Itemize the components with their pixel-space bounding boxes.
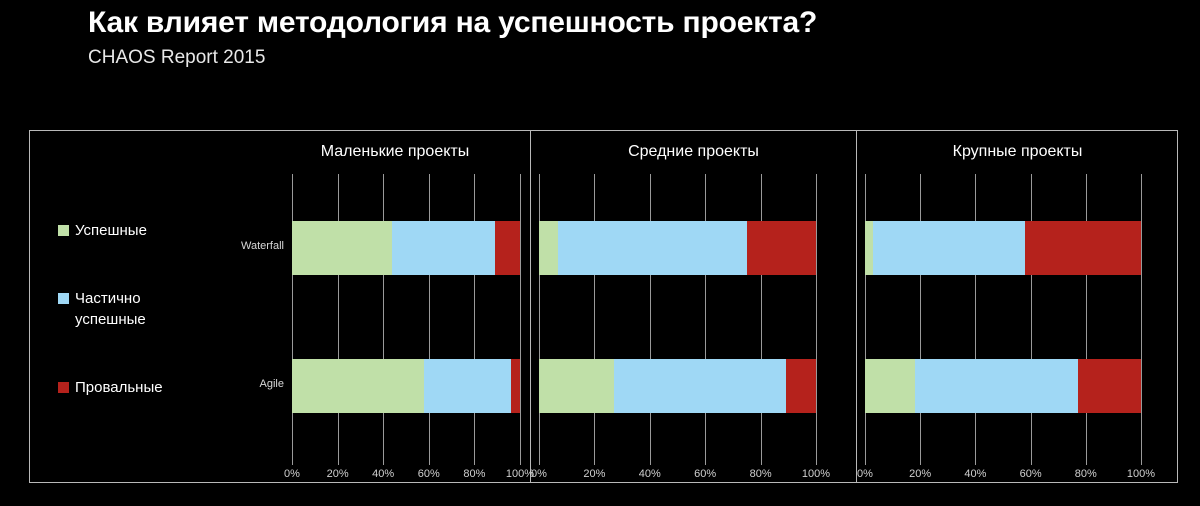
x-axis-large: 0%20%40%60%80%100%	[865, 456, 1141, 486]
gridline-0%	[865, 174, 866, 456]
gridline-100%	[520, 174, 521, 456]
tick-label-20%: 20%	[583, 468, 605, 480]
row-label-waterfall: Waterfall	[241, 240, 284, 252]
facet-large-projects: Крупные проекты Waterfall Agile 0%20%40%…	[857, 131, 1178, 482]
bar-segment-small-agile-0[interactable]	[292, 359, 424, 413]
tick-mark-60%	[429, 456, 430, 465]
gridline-80%	[761, 174, 762, 456]
tick-mark-40%	[383, 456, 384, 465]
gridline-80%	[1086, 174, 1087, 456]
bar-segment-medium-agile-2[interactable]	[786, 359, 816, 413]
bar-segment-large-agile-2[interactable]	[1078, 359, 1141, 413]
tick-mark-0%	[292, 456, 293, 465]
gridline-100%	[816, 174, 817, 456]
tick-mark-0%	[865, 456, 866, 465]
gridline-60%	[1031, 174, 1032, 456]
legend-swatch-challenged-icon	[58, 293, 69, 304]
tick-mark-20%	[338, 456, 339, 465]
gridline-20%	[920, 174, 921, 456]
legend-swatch-successful-icon	[58, 225, 69, 236]
tick-label-40%: 40%	[964, 468, 986, 480]
tick-mark-40%	[650, 456, 651, 465]
gridline-40%	[383, 174, 384, 456]
tick-mark-100%	[1141, 456, 1142, 465]
gridline-40%	[650, 174, 651, 456]
tick-mark-100%	[816, 456, 817, 465]
bar-segment-small-agile-1[interactable]	[424, 359, 511, 413]
gridline-80%	[474, 174, 475, 456]
gridline-60%	[429, 174, 430, 456]
gridline-0%	[292, 174, 293, 456]
bar-segment-small-agile-2[interactable]	[511, 359, 520, 413]
gridline-20%	[594, 174, 595, 456]
legend-label-failed: Провальные	[75, 378, 163, 398]
tick-mark-0%	[539, 456, 540, 465]
bar-segment-medium-agile-1[interactable]	[614, 359, 786, 413]
plot-area-small: Waterfall Agile 0%20%40%60%80%100%	[292, 174, 520, 456]
page-subtitle: CHAOS Report 2015	[88, 47, 1138, 69]
facet-medium-projects: Средние проекты Waterfall Agile 0%20%40%…	[531, 131, 856, 482]
facet-title-medium: Средние проекты	[531, 143, 856, 161]
legend-label-successful: Успешные	[75, 221, 147, 241]
gridline-20%	[338, 174, 339, 456]
tick-label-40%: 40%	[639, 468, 661, 480]
tick-label-20%: 20%	[909, 468, 931, 480]
bar-row-waterfall-medium[interactable]: Waterfall	[539, 221, 816, 275]
bar-segment-large-waterfall-0[interactable]	[865, 221, 873, 275]
bar-row-waterfall-large[interactable]: Waterfall	[865, 221, 1141, 275]
tick-mark-80%	[1086, 456, 1087, 465]
gridline-0%	[539, 174, 540, 456]
tick-label-20%: 20%	[327, 468, 349, 480]
tick-mark-80%	[761, 456, 762, 465]
gridline-40%	[975, 174, 976, 456]
facet-title-large: Крупные проекты	[857, 143, 1178, 161]
bar-segment-large-waterfall-2[interactable]	[1025, 221, 1141, 275]
bar-row-agile-medium[interactable]: Agile	[539, 359, 816, 413]
tick-mark-80%	[474, 456, 475, 465]
tick-label-100%: 100%	[802, 468, 830, 480]
bar-row-waterfall-small[interactable]: Waterfall	[292, 221, 520, 275]
page-title: Как влияет методология на успешность про…	[88, 6, 1138, 41]
bar-segment-small-waterfall-0[interactable]	[292, 221, 392, 275]
tick-mark-20%	[920, 456, 921, 465]
tick-label-80%: 80%	[1075, 468, 1097, 480]
bar-segment-large-agile-0[interactable]	[865, 359, 915, 413]
tick-label-0%: 0%	[531, 468, 547, 480]
bar-segment-large-waterfall-1[interactable]	[873, 221, 1025, 275]
tick-mark-100%	[520, 456, 521, 465]
tick-label-0%: 0%	[284, 468, 300, 480]
tick-label-80%: 80%	[750, 468, 772, 480]
gridline-100%	[1141, 174, 1142, 456]
tick-label-100%: 100%	[506, 468, 534, 480]
tick-mark-60%	[1031, 456, 1032, 465]
plot-area-large: Waterfall Agile 0%20%40%60%80%100%	[865, 174, 1141, 456]
bar-segment-large-agile-1[interactable]	[915, 359, 1078, 413]
tick-label-100%: 100%	[1127, 468, 1155, 480]
x-axis-medium: 0%20%40%60%80%100%	[539, 456, 816, 486]
tick-label-40%: 40%	[372, 468, 394, 480]
tick-mark-60%	[705, 456, 706, 465]
facet-title-small: Маленькие проекты	[190, 143, 530, 161]
facet-small-projects: Маленькие проекты Waterfall Agile 0%20%4…	[190, 131, 530, 482]
bar-segment-small-waterfall-2[interactable]	[495, 221, 520, 275]
bar-segment-medium-waterfall-2[interactable]	[747, 221, 816, 275]
tick-label-60%: 60%	[418, 468, 440, 480]
tick-label-60%: 60%	[694, 468, 716, 480]
header: Как влияет методология на успешность про…	[88, 6, 1138, 68]
bar-row-agile-small[interactable]: Agile	[292, 359, 520, 413]
bar-segment-medium-waterfall-0[interactable]	[539, 221, 558, 275]
tick-label-80%: 80%	[463, 468, 485, 480]
tick-mark-40%	[975, 456, 976, 465]
bar-segment-medium-waterfall-1[interactable]	[558, 221, 746, 275]
row-label-agile: Agile	[260, 378, 284, 390]
tick-label-0%: 0%	[857, 468, 873, 480]
legend-label-challenged: Частично успешные	[75, 289, 195, 330]
bar-segment-medium-agile-0[interactable]	[539, 359, 614, 413]
gridline-60%	[705, 174, 706, 456]
x-axis-small: 0%20%40%60%80%100%	[292, 456, 520, 486]
tick-label-60%: 60%	[1020, 468, 1042, 480]
tick-mark-20%	[594, 456, 595, 465]
bar-row-agile-large[interactable]: Agile	[865, 359, 1141, 413]
bar-segment-small-waterfall-1[interactable]	[392, 221, 495, 275]
plot-area-medium: Waterfall Agile 0%20%40%60%80%100%	[539, 174, 816, 456]
legend-swatch-failed-icon	[58, 382, 69, 393]
chart-frame: Успешные Частично успешные Провальные Ма…	[29, 130, 1178, 483]
